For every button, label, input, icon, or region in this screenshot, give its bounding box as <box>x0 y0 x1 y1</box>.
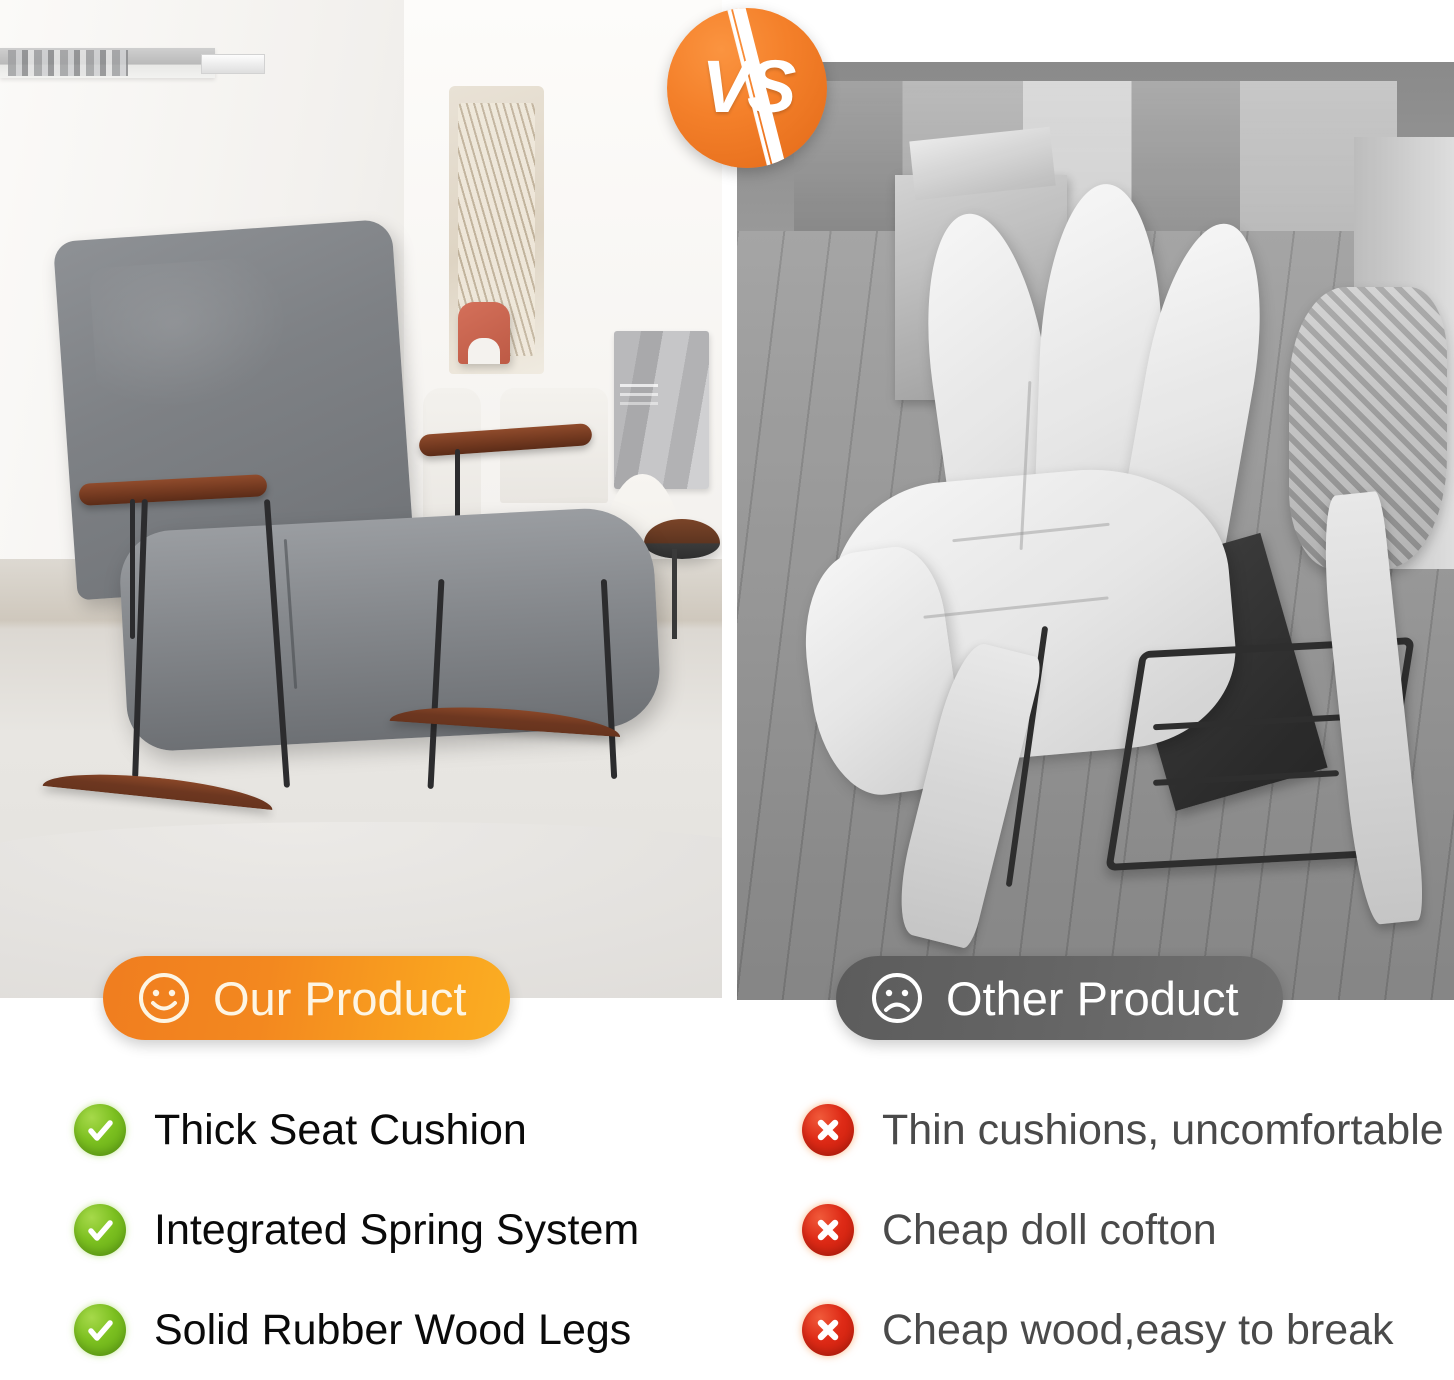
our-product-banner: Our Product <box>103 956 510 1040</box>
other-product-feature-list: Thin cushions, uncomfortable Cheap doll … <box>802 1080 1442 1380</box>
list-item: Solid Rubber Wood Legs <box>74 1280 754 1380</box>
list-item: Thin cushions, uncomfortable <box>802 1080 1442 1180</box>
our-product-feature-list: Thick Seat Cushion Integrated Spring Sys… <box>74 1080 754 1380</box>
green-check-icon <box>74 1104 126 1156</box>
feature-label: Integrated Spring System <box>154 1206 639 1255</box>
grey-rocking-chair <box>0 0 722 998</box>
left-scene-background <box>0 0 722 998</box>
chair-arm-post-near <box>130 499 135 639</box>
list-item: Cheap wood,easy to break <box>802 1280 1442 1380</box>
list-item: Cheap doll cofton <box>802 1180 1442 1280</box>
our-product-banner-label: Our Product <box>213 971 466 1026</box>
other-product-banner: Other Product <box>836 956 1283 1040</box>
right-scene-background <box>737 62 1454 1000</box>
smiley-face-icon <box>137 971 191 1025</box>
feature-comparison-lists: Thick Seat Cushion Integrated Spring Sys… <box>0 1080 1454 1365</box>
green-check-icon <box>74 1304 126 1356</box>
list-item: Integrated Spring System <box>74 1180 754 1280</box>
feature-label: Thick Seat Cushion <box>154 1106 527 1155</box>
feature-label: Thin cushions, uncomfortable <box>882 1106 1444 1155</box>
feature-label: Solid Rubber Wood Legs <box>154 1306 631 1355</box>
feature-label: Cheap wood,easy to break <box>882 1306 1394 1355</box>
list-item: Thick Seat Cushion <box>74 1080 754 1180</box>
chair-seat-cushion <box>117 505 662 752</box>
other-product-banner-label: Other Product <box>946 971 1239 1026</box>
green-check-icon <box>74 1204 126 1256</box>
our-product-photo <box>0 0 722 998</box>
red-cross-icon <box>802 1104 854 1156</box>
chair-armrest-far <box>418 423 592 457</box>
sad-face-icon <box>870 971 924 1025</box>
red-cross-icon <box>802 1204 854 1256</box>
red-cross-icon <box>802 1304 854 1356</box>
other-product-photo <box>737 62 1454 1000</box>
chair-rocker-front <box>43 766 275 810</box>
vs-badge: VS <box>667 8 827 168</box>
feature-label: Cheap doll cofton <box>882 1206 1217 1255</box>
